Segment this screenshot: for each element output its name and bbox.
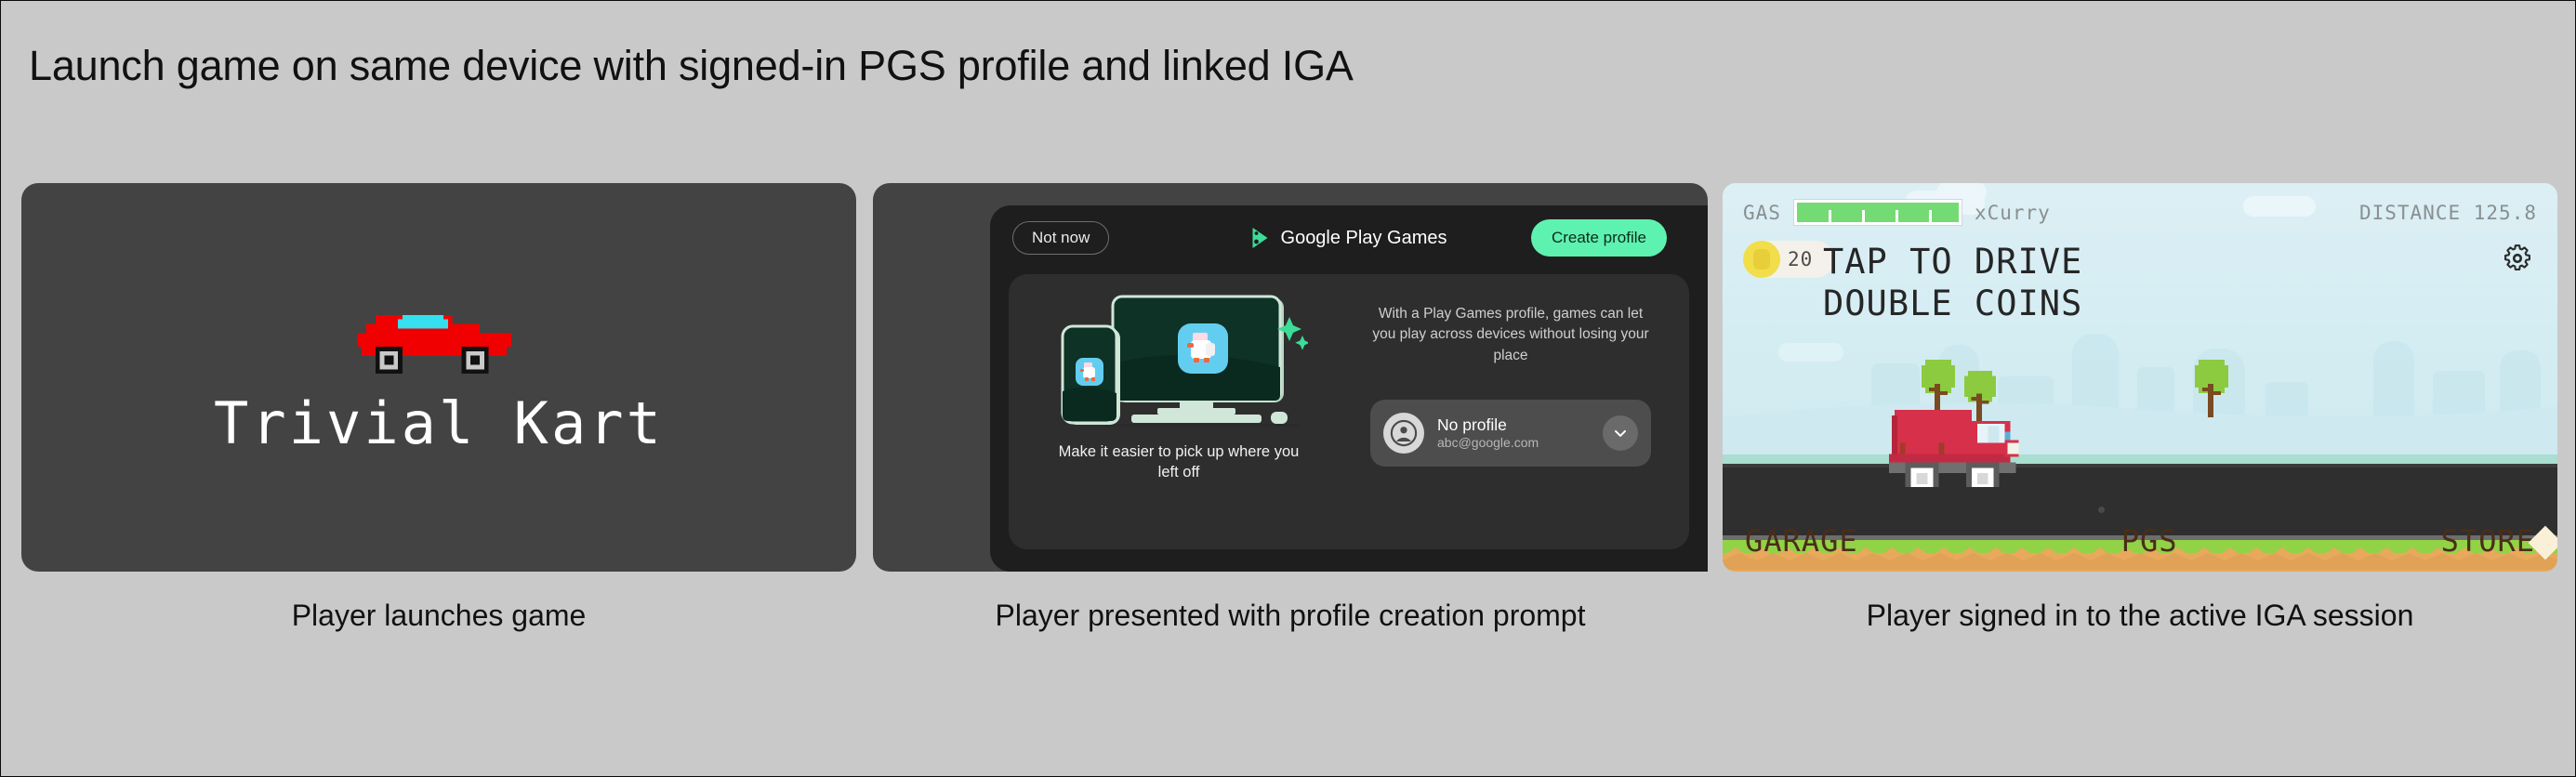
far-grass [1723, 454, 2557, 464]
hud-top-bar: GAS xCurry DISTANCE 125.8 [1743, 200, 2537, 225]
gear-icon [2503, 244, 2532, 273]
game-title: Trivial Kart [21, 395, 856, 453]
nav-pgs[interactable]: PGS [2121, 523, 2178, 559]
panel-profile-prompt: Not now Google Play Games Create profile [873, 183, 1708, 572]
gas-tick [1929, 210, 1932, 222]
gas-label: GAS [1743, 202, 1781, 224]
panel-game-splash: Trivial Kart [21, 183, 856, 572]
nav-garage[interactable]: GARAGE [1745, 523, 1858, 559]
coin-icon [1743, 241, 1780, 278]
gas-tick [1862, 210, 1865, 222]
gas-meter [1794, 200, 1962, 225]
pgs-brand-label: Google Play Games [1281, 228, 1447, 249]
page-title: Launch game on same device with signed-i… [29, 42, 1354, 90]
pixel-car-icon [350, 306, 527, 378]
account-selector[interactable]: No profile abc@google.com [1370, 400, 1651, 467]
caption-panel-3: Player signed in to the active IGA sessi… [1723, 596, 2557, 636]
avatar [1383, 413, 1424, 454]
pgs-sheet-header: Not now Google Play Games Create profile [990, 205, 1708, 270]
road-edge-top [1723, 464, 2557, 468]
account-circle-icon [1390, 419, 1418, 447]
coin-count: 20 [1788, 248, 1813, 270]
gas-tick [1896, 210, 1898, 222]
profile-description: With a Play Games profile, games can let… [1371, 304, 1650, 366]
account-name: No profile [1437, 415, 1603, 434]
game-bottom-nav: GARAGE PGS STORE [1723, 514, 2557, 572]
google-play-games-icon [1251, 227, 1272, 249]
account-expand-button[interactable] [1603, 415, 1638, 451]
create-profile-button[interactable]: Create profile [1531, 219, 1667, 257]
tree-icon [2193, 358, 2230, 419]
panel-row: Trivial Kart Not now Google Play Games [1, 183, 2576, 583]
road-marker [2098, 507, 2105, 513]
caption-panel-1: Player launches game [21, 596, 856, 636]
account-email: abc@google.com [1437, 434, 1603, 451]
hud-headline: TAP TO DRIVE DOUBLE COINS [1823, 241, 2082, 324]
caption-row: Player launches game Player presented wi… [1, 596, 2576, 735]
city-skyline [1723, 321, 2557, 460]
nav-store[interactable]: STORE [2441, 523, 2535, 559]
coin-inner [1753, 249, 1770, 270]
pgs-info-card: Make it easier to pick up where you left… [1009, 274, 1689, 549]
panel-game-hud: GAS xCurry DISTANCE 125.8 [1723, 183, 2557, 572]
pgs-brand: Google Play Games [1251, 227, 1447, 249]
pgs-card-left: Make it easier to pick up where you left… [1009, 274, 1349, 549]
settings-button[interactable] [2500, 241, 2535, 276]
player-username: xCurry [1975, 202, 2051, 224]
splash-content: Trivial Kart [21, 306, 856, 453]
game-scene: GAS xCurry DISTANCE 125.8 [1723, 183, 2557, 572]
pgs-card-right: With a Play Games profile, games can let… [1349, 274, 1689, 549]
chevron-down-icon [1611, 424, 1630, 442]
devices-illustration [1050, 291, 1308, 430]
gas-tick [1829, 210, 1831, 222]
pgs-bottom-sheet: Not now Google Play Games Create profile [990, 205, 1708, 572]
gas-meter-fill [1797, 203, 1959, 222]
not-now-button[interactable]: Not now [1012, 221, 1109, 255]
coin-counter: 20 [1743, 241, 1834, 278]
caption-panel-2: Player presented with profile creation p… [873, 596, 1708, 636]
distance-readout: DISTANCE 125.8 [2359, 202, 2537, 224]
hud-headline-line1: TAP TO DRIVE [1823, 241, 2082, 283]
cloud [1778, 343, 1843, 362]
screenshot-root: Launch game on same device with signed-i… [0, 0, 2576, 777]
account-text: No profile abc@google.com [1437, 415, 1603, 451]
hud-left-group: GAS xCurry [1743, 200, 2051, 225]
hud-headline-line2: DOUBLE COINS [1823, 283, 2082, 324]
pixel-truck-icon [1882, 404, 2050, 490]
devices-caption: Make it easier to pick up where you left… [1053, 441, 1304, 483]
